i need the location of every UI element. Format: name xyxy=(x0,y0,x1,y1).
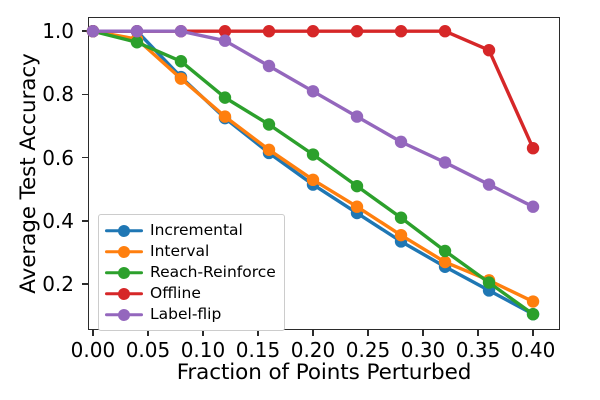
data-point-marker xyxy=(439,25,451,37)
legend-label: Label-flip xyxy=(150,307,221,323)
x-axis-label: Fraction of Points Perturbed xyxy=(88,360,560,385)
data-point-marker xyxy=(131,25,143,37)
data-point-marker xyxy=(351,201,363,213)
y-tick-label: 1.0 xyxy=(4,19,74,43)
data-point-marker xyxy=(263,144,275,156)
chart-legend: IncrementalIntervalReach-ReinforceOfflin… xyxy=(98,214,285,331)
data-point-marker xyxy=(483,178,495,190)
data-point-marker xyxy=(527,308,539,320)
data-point-marker xyxy=(87,25,99,37)
data-point-marker xyxy=(263,60,275,72)
data-point-marker xyxy=(527,142,539,154)
data-point-marker xyxy=(395,229,407,241)
legend-label: Incremental xyxy=(150,223,243,239)
legend-item: Incremental xyxy=(105,220,276,241)
legend-item: Label-flip xyxy=(105,304,276,325)
x-tick-label: 0.40 xyxy=(493,338,573,362)
legend-item: Interval xyxy=(105,241,276,262)
y-tick-label: 0.8 xyxy=(4,82,74,106)
y-tick-label: 0.2 xyxy=(4,272,74,296)
legend-dot-icon xyxy=(118,246,130,258)
legend-marker-icon xyxy=(105,264,143,282)
data-point-marker xyxy=(527,295,539,307)
data-point-marker xyxy=(483,44,495,56)
legend-dot-icon xyxy=(118,288,130,300)
data-point-marker xyxy=(395,212,407,224)
legend-marker-icon xyxy=(105,243,143,261)
x-tick-mark xyxy=(477,330,479,336)
legend-dot-icon xyxy=(118,225,130,237)
x-tick-mark xyxy=(92,330,94,336)
x-tick-mark xyxy=(532,330,534,336)
legend-marker-icon xyxy=(105,306,143,324)
data-point-marker xyxy=(307,25,319,37)
data-point-marker xyxy=(395,136,407,148)
x-tick-mark xyxy=(367,330,369,336)
data-point-marker xyxy=(263,118,275,130)
data-point-marker xyxy=(219,35,231,47)
data-point-marker xyxy=(351,25,363,37)
data-point-marker xyxy=(175,55,187,67)
data-point-marker xyxy=(219,91,231,103)
data-point-marker xyxy=(439,256,451,268)
data-point-marker xyxy=(307,174,319,186)
data-point-marker xyxy=(351,110,363,122)
chart-figure: Average Test Accuracy Fraction of Points… xyxy=(0,0,600,400)
data-point-marker xyxy=(307,148,319,160)
data-point-marker xyxy=(439,245,451,257)
legend-item: Offline xyxy=(105,283,276,304)
legend-marker-icon xyxy=(105,222,143,240)
data-point-marker xyxy=(175,25,187,37)
data-point-marker xyxy=(527,201,539,213)
data-point-marker xyxy=(483,276,495,288)
legend-label: Offline xyxy=(150,286,201,302)
y-tick-label: 0.4 xyxy=(4,209,74,233)
legend-label: Interval xyxy=(150,244,209,260)
legend-label: Reach-Reinforce xyxy=(150,265,276,281)
legend-item: Reach-Reinforce xyxy=(105,262,276,283)
data-point-marker xyxy=(395,25,407,37)
legend-dot-icon xyxy=(118,309,130,321)
data-point-marker xyxy=(263,25,275,37)
data-point-marker xyxy=(307,85,319,97)
data-point-marker xyxy=(131,36,143,48)
x-tick-mark xyxy=(422,330,424,336)
data-point-marker xyxy=(351,180,363,192)
x-tick-mark xyxy=(312,330,314,336)
data-point-marker xyxy=(175,72,187,84)
legend-dot-icon xyxy=(118,267,130,279)
y-tick-label: 0.6 xyxy=(4,146,74,170)
legend-marker-icon xyxy=(105,285,143,303)
data-point-marker xyxy=(219,110,231,122)
data-point-marker xyxy=(439,156,451,168)
